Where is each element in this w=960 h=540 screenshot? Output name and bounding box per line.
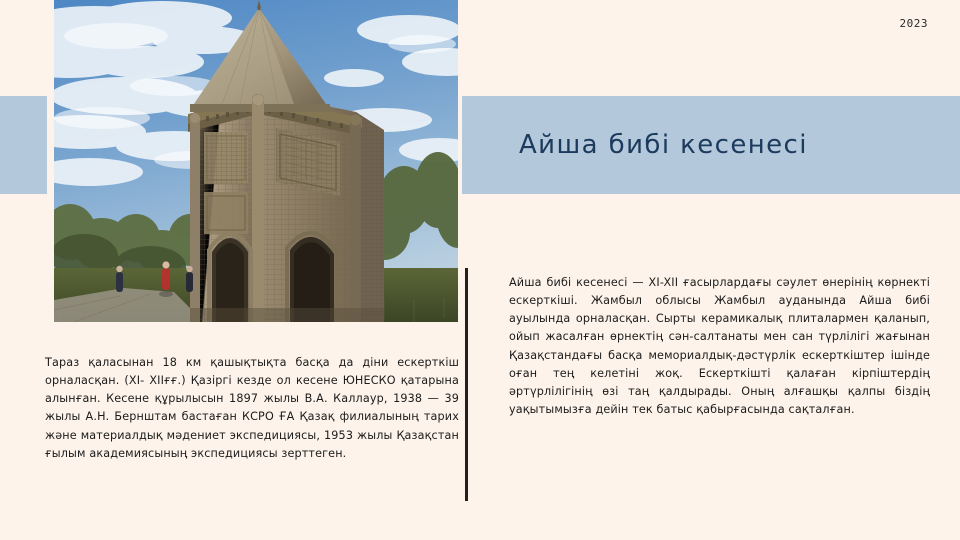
mausoleum-photo [54,0,458,322]
left-accent-block [0,96,47,194]
mausoleum-photo-graphic [54,0,458,322]
left-body-paragraph: Тараз қаласынан 18 км қашықтықта басқа д… [45,354,459,463]
column-divider [465,268,468,501]
year-label: 2023 [900,18,929,29]
page-title: Айша бибі кесенесі [519,130,808,160]
right-body-paragraph: Айша бибі кесенесі — XI-XII ғасырлардағы… [509,274,930,419]
title-band: Айша бибі кесенесі [462,96,960,194]
presentation-slide: 2023 [0,0,960,540]
